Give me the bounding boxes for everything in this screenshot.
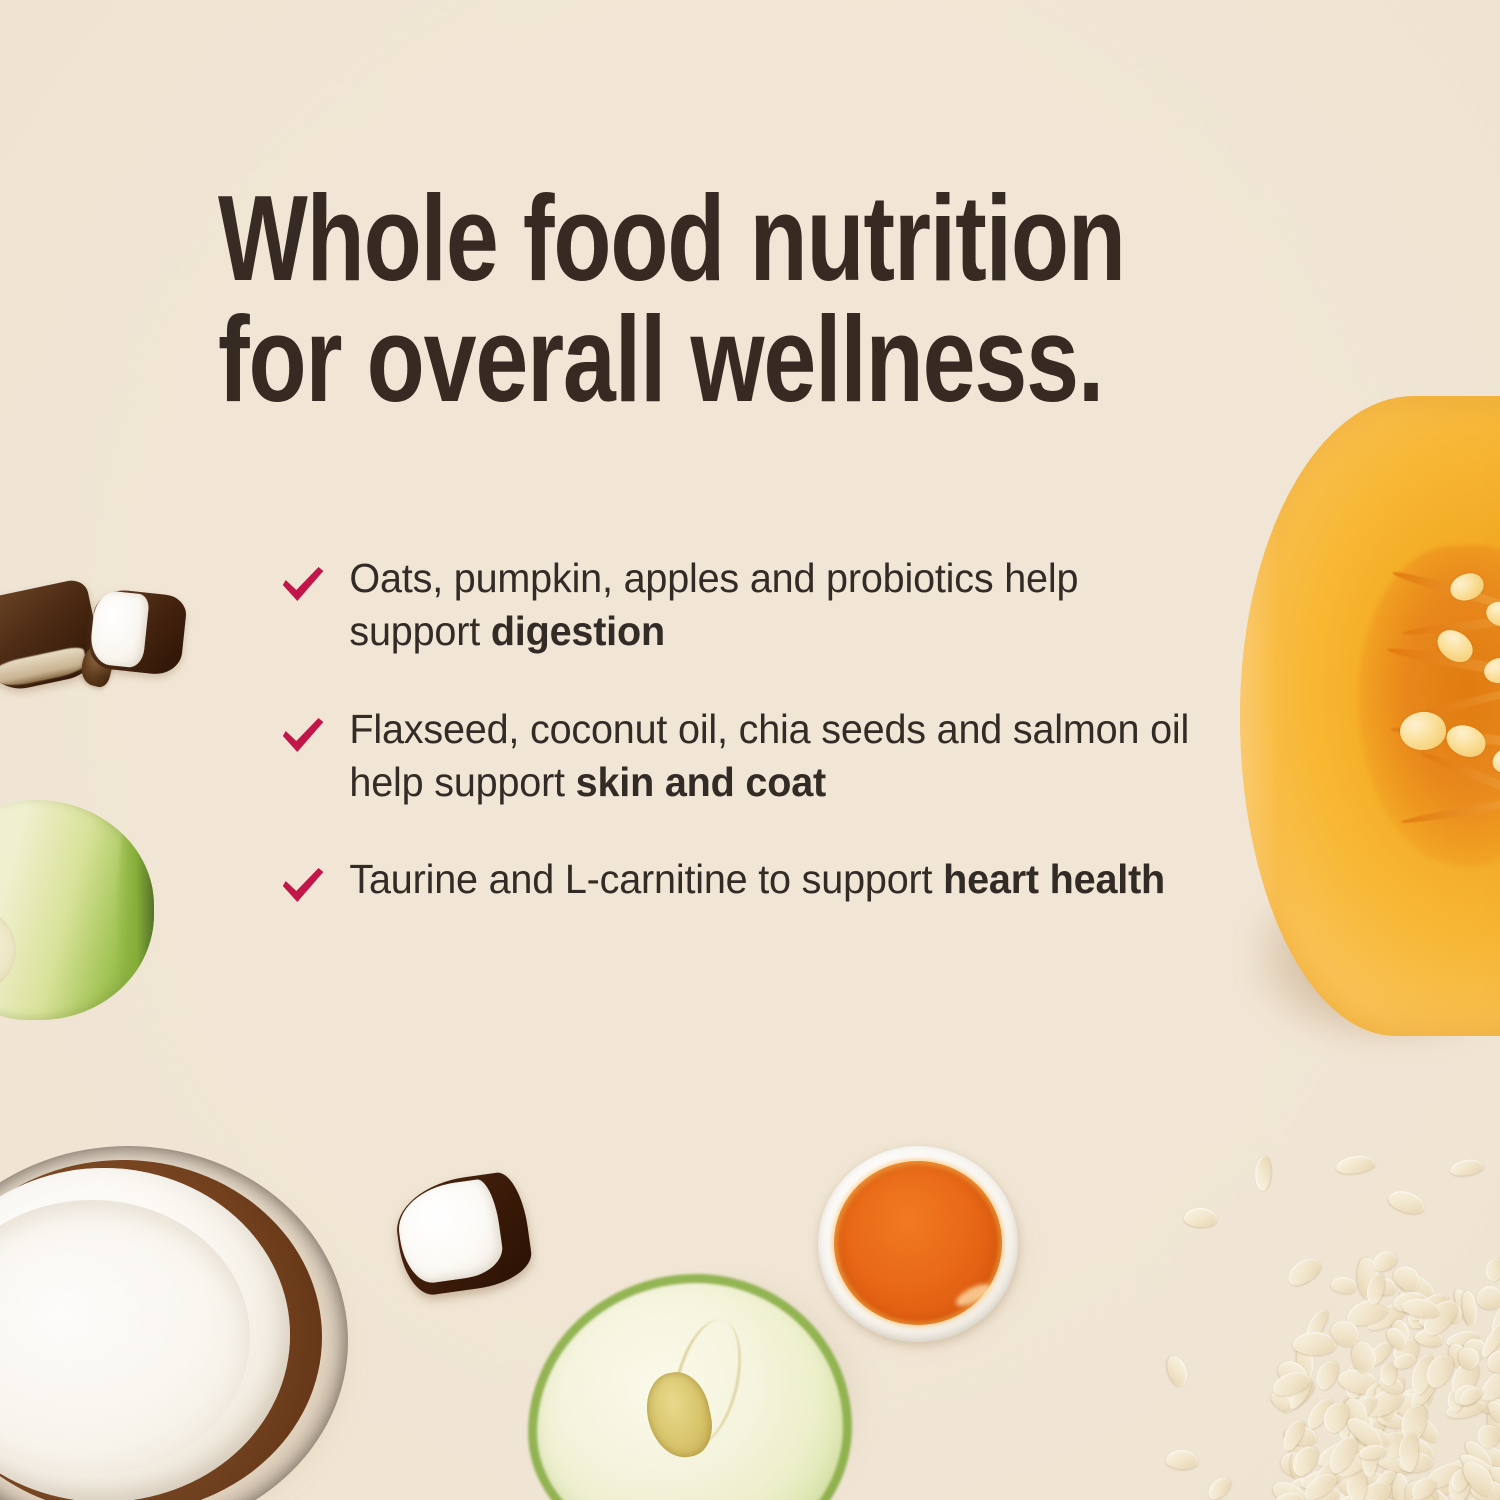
oat-flake	[1335, 1153, 1376, 1175]
apple-slice-core	[0, 908, 16, 992]
list-item-text-emphasis: digestion	[491, 608, 665, 654]
oat-flake	[1386, 1187, 1427, 1218]
salmon-oil-bowl	[818, 1146, 1018, 1342]
list-item-text-regular: Taurine and L-carnitine to support	[349, 856, 943, 902]
list-item: Flaxseed, coconut oil, chia seeds and sa…	[278, 703, 1204, 810]
coconut-flesh-fragment	[88, 587, 188, 676]
coconut-chunk	[391, 1169, 535, 1298]
oat-flake	[1254, 1156, 1271, 1191]
benefits-list: Oats, pumpkin, apples and probiotics hel…	[278, 552, 1238, 906]
apple-half	[530, 1276, 850, 1500]
headline-line-1: Whole food nutrition	[218, 178, 1084, 299]
apple-slice-skin	[116, 806, 154, 1018]
oat-flake	[1312, 1357, 1342, 1393]
apple-slice	[0, 800, 154, 1020]
list-item-text: Oats, pumpkin, apples and probiotics hel…	[349, 555, 1078, 654]
check-icon	[280, 566, 326, 606]
oats-pile	[1150, 1150, 1500, 1500]
coconut-half	[0, 1146, 348, 1500]
apple-slice-body	[0, 800, 154, 1020]
check-icon	[280, 867, 326, 907]
list-item: Taurine and L-carnitine to support heart…	[278, 853, 1204, 906]
oat-flake	[1460, 1290, 1479, 1327]
oat-flake	[1204, 1473, 1234, 1500]
oat-flake	[1483, 1255, 1500, 1282]
oat-flake	[1164, 1353, 1191, 1388]
list-item-text: Taurine and L-carnitine to support heart…	[349, 856, 1165, 902]
oat-flake	[1449, 1158, 1484, 1178]
check-icon	[280, 717, 326, 757]
list-item: Oats, pumpkin, apples and probiotics hel…	[278, 552, 1204, 659]
pumpkin-body	[1240, 396, 1500, 1036]
oat-flake	[1166, 1449, 1199, 1470]
oat-flake	[1476, 1285, 1500, 1311]
oat-flake	[1330, 1276, 1358, 1296]
list-item-text: Flaxseed, coconut oil, chia seeds and sa…	[349, 706, 1189, 805]
pumpkin-half	[1240, 396, 1500, 1036]
oat-flake	[1293, 1332, 1336, 1355]
page-title: Whole food nutrition for overall wellnes…	[218, 178, 1084, 420]
pumpkin-rim-highlight	[1240, 396, 1304, 1036]
list-item-text-emphasis: heart health	[943, 856, 1165, 902]
oat-flake	[1283, 1253, 1325, 1291]
oil-meniscus	[832, 1159, 1004, 1327]
promo-graphic: Whole food nutrition for overall wellnes…	[0, 0, 1500, 1500]
oat-flake	[1184, 1207, 1218, 1227]
list-item-text-regular: Oats, pumpkin, apples and probiotics hel…	[349, 555, 1078, 654]
headline-line-2: for overall wellness.	[218, 299, 1084, 420]
list-item-text-emphasis: skin and coat	[576, 759, 826, 805]
